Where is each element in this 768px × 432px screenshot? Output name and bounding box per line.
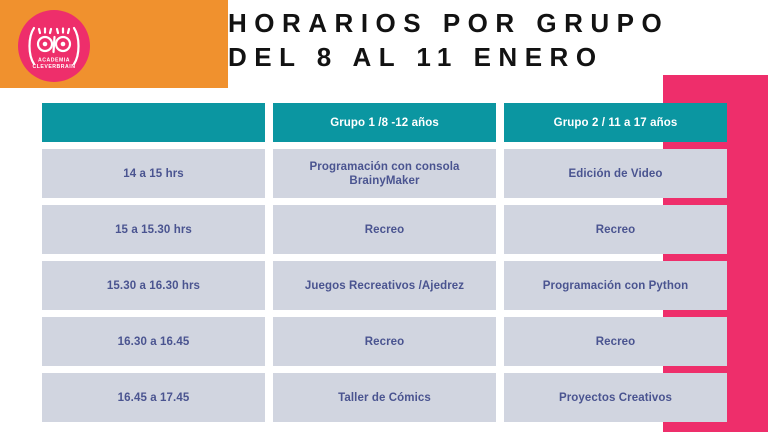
table-row: 15.30 a 16.30 hrs Juegos Recreativos /Aj… xyxy=(42,261,728,310)
schedule-table: Grupo 1 /8 -12 años Grupo 2 / 11 a 17 añ… xyxy=(42,103,728,429)
table-row: 15 a 15.30 hrs Recreo Recreo xyxy=(42,205,728,254)
table-row: 14 a 15 hrs Programación con consola Bra… xyxy=(42,149,728,198)
cell-grupo-2: Edición de Video xyxy=(504,149,727,198)
cell-grupo-2: Proyectos Creativos xyxy=(504,373,727,422)
table-row: 16.30 a 16.45 Recreo Recreo xyxy=(42,317,728,366)
cell-time: 15.30 a 16.30 hrs xyxy=(42,261,265,310)
slide-canvas: ACADEMIA CLEVERBRAIN HORARIOS POR GRUPO … xyxy=(0,0,768,432)
cell-time: 14 a 15 hrs xyxy=(42,149,265,198)
cell-time: 15 a 15.30 hrs xyxy=(42,205,265,254)
page-title: HORARIOS POR GRUPO DEL 8 AL 11 ENERO xyxy=(228,6,768,74)
column-header-time xyxy=(42,103,265,142)
table-row: 16.45 a 17.45 Taller de Cómics Proyectos… xyxy=(42,373,728,422)
table-header-row: Grupo 1 /8 -12 años Grupo 2 / 11 a 17 añ… xyxy=(42,103,728,142)
cell-grupo-1: Recreo xyxy=(273,205,496,254)
cell-grupo-2: Recreo xyxy=(504,317,727,366)
logo-text-line1: ACADEMIA xyxy=(38,58,70,64)
cell-grupo-1: Programación con consola BrainyMaker xyxy=(273,149,496,198)
cell-grupo-1: Recreo xyxy=(273,317,496,366)
cell-time: 16.45 a 17.45 xyxy=(42,373,265,422)
logo-text-line2: CLEVERBRAIN xyxy=(33,64,76,70)
page-title-line-1: HORARIOS POR GRUPO xyxy=(228,6,768,40)
page-title-line-2: DEL 8 AL 11 ENERO xyxy=(228,40,768,74)
cell-grupo-2: Recreo xyxy=(504,205,727,254)
cell-grupo-2: Programación con Python xyxy=(504,261,727,310)
column-header-grupo-1: Grupo 1 /8 -12 años xyxy=(273,103,496,142)
column-header-grupo-2: Grupo 2 / 11 a 17 años xyxy=(504,103,727,142)
cell-grupo-1: Taller de Cómics xyxy=(273,373,496,422)
academia-cleverbrain-logo: ACADEMIA CLEVERBRAIN xyxy=(18,10,90,82)
cell-grupo-1: Juegos Recreativos /Ajedrez xyxy=(273,261,496,310)
cell-time: 16.30 a 16.45 xyxy=(42,317,265,366)
